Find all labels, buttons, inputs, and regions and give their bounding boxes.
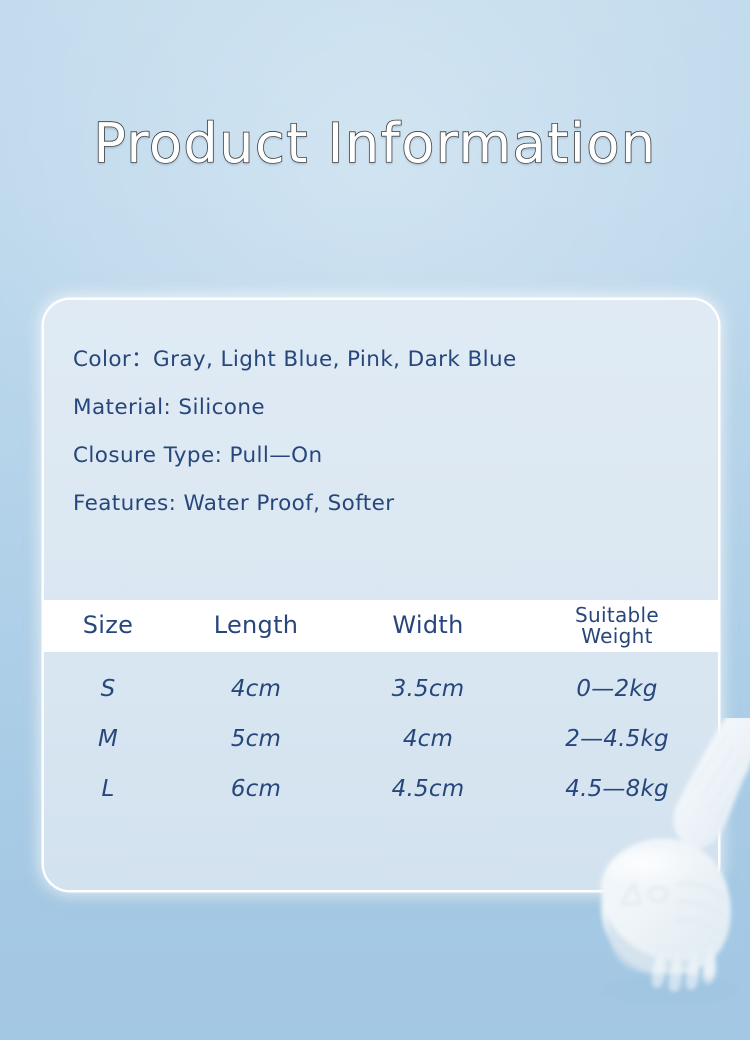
spec-closure-type: Closure Type: Pull—On [73,432,693,480]
cell-length: 5cm [172,726,340,752]
table-row: S 4cm 3.5cm 0—2kg [44,664,718,714]
cell-width: 4.5cm [340,776,516,802]
cell-weight: 4.5—8kg [516,776,718,802]
column-header-size: Size [44,613,172,638]
cell-weight: 2—4.5kg [516,726,718,752]
cell-size: M [44,726,172,752]
cell-size: S [44,676,172,702]
cell-width: 4cm [340,726,516,752]
specification-list: Color：Gray, Light Blue, Pink, Dark Blue … [73,336,693,528]
page-title: Product Information [0,112,750,175]
spec-material: Material: Silicone [73,384,693,432]
cell-length: 6cm [172,776,340,802]
information-card: Color：Gray, Light Blue, Pink, Dark Blue … [44,300,718,890]
cell-weight: 0—2kg [516,676,718,702]
column-header-suitable-weight: Suitable Weight [516,605,718,647]
spec-color: Color：Gray, Light Blue, Pink, Dark Blue [73,336,693,384]
table-header-row: Size Length Width Suitable Weight [44,600,718,652]
cell-length: 4cm [172,676,340,702]
table-row-gap [44,652,718,664]
table-row: L 6cm 4.5cm 4.5—8kg [44,764,718,814]
cell-width: 3.5cm [340,676,516,702]
column-header-suitable-weight-line2: Weight [516,626,718,647]
column-header-suitable-weight-line1: Suitable [516,605,718,626]
spec-features: Features: Water Proof, Softer [73,480,693,528]
table-row: M 5cm 4cm 2—4.5kg [44,714,718,764]
size-table: Size Length Width Suitable Weight S 4cm … [44,600,718,814]
column-header-length: Length [172,613,340,638]
product-information-page: Product Information Color：Gray, Light Bl… [0,0,750,1040]
cell-size: L [44,776,172,802]
column-header-width: Width [340,613,516,638]
